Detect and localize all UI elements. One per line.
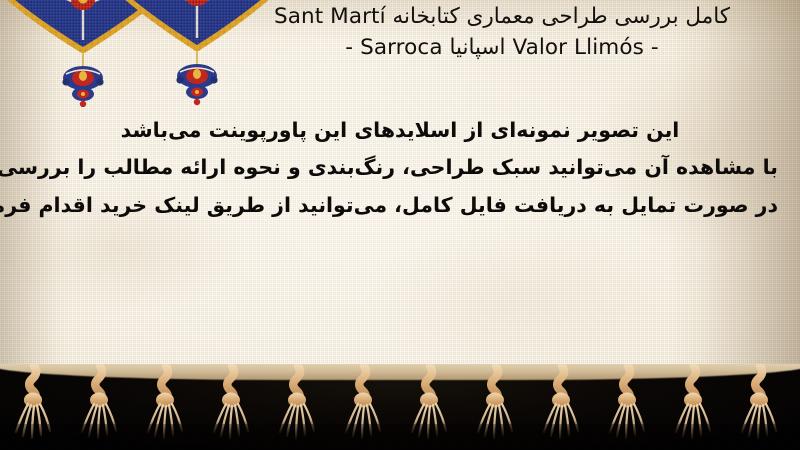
slide-title-line-2: - Valor Llimós اسپانیا Sarroca - bbox=[222, 33, 782, 64]
slide-body-text: این تصویر نمونه‌ای از اسلایدهای این پاور… bbox=[0, 112, 800, 224]
slide-body-line-2: با مشاهده آن می‌توانید سبک طراحی، رنگ‌بن… bbox=[22, 149, 778, 186]
slide-title-line-1: کامل بررسی طراحی معماری کتابخانه Sant Ma… bbox=[222, 2, 782, 33]
slide-title: کامل بررسی طراحی معماری کتابخانه Sant Ma… bbox=[222, 2, 782, 63]
slide-body-line-3: در صورت تمایل به دریافت فایل کامل، می‌تو… bbox=[22, 187, 778, 224]
carpet-knotted-fringe-tassels bbox=[0, 364, 800, 450]
carpet-fringe-band bbox=[0, 364, 800, 450]
slide-body-line-1: این تصویر نمونه‌ای از اسلایدهای این پاور… bbox=[22, 112, 778, 149]
slide-canvas: کامل بررسی طراحی معماری کتابخانه Sant Ma… bbox=[0, 0, 800, 450]
